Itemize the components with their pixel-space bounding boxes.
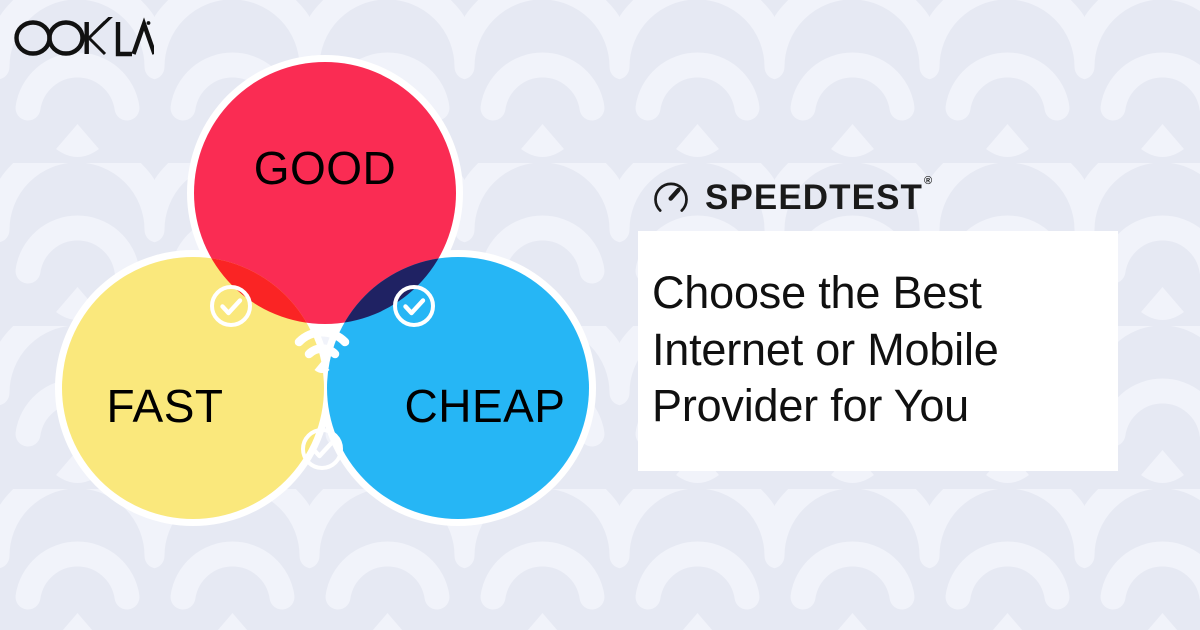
right-content-column: SPEEDTEST® Choose the Best Internet or M… [638,170,1118,471]
headline-card: Choose the Best Internet or Mobile Provi… [638,231,1118,471]
headline-line-2: Internet or Mobile [652,322,1118,379]
ookla-logo[interactable]: OOKLA [14,17,154,57]
venn-label-cheap: CHEAP [405,380,566,432]
venn-diagram: GOOD FAST CHEAP [0,40,640,600]
registered-mark: ® [924,175,933,187]
speedtest-wordmark-text: SPEEDTEST [705,178,923,217]
venn-label-fast: FAST [106,380,223,432]
speedometer-icon [651,177,691,217]
headline-line-3: Provider for You [652,378,1118,435]
speedtest-wordmark: SPEEDTEST® [705,180,932,215]
venn-label-good: GOOD [254,142,397,194]
speedtest-logo[interactable]: SPEEDTEST® [651,170,1118,224]
page-title: Choose the Best Internet or Mobile Provi… [652,265,1118,435]
headline-line-1: Choose the Best [652,265,1118,322]
